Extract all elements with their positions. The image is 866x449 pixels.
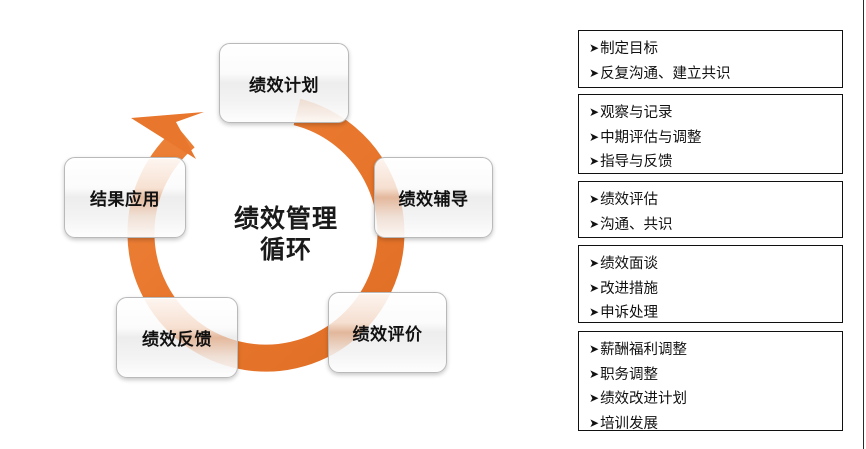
detail-item-text: 申诉处理 — [600, 306, 658, 321]
detail-item-text: 观察与记录 — [600, 106, 673, 121]
detail-item-text: 指导与反馈 — [600, 155, 673, 170]
bullet-arrow-icon: ➤ — [589, 343, 599, 355]
cycle-node-plan-label: 绩效计划 — [249, 71, 319, 96]
bullet-arrow-icon: ➤ — [589, 417, 599, 429]
detail-item-text: 绩效改进计划 — [600, 392, 687, 407]
cycle-node-apply[interactable]: 结果应用 — [64, 157, 186, 238]
bullet-arrow-icon: ➤ — [589, 155, 599, 167]
bullet-arrow-icon: ➤ — [589, 392, 599, 404]
bullet-arrow-icon: ➤ — [589, 131, 599, 143]
cycle-node-feedback-label: 绩效反馈 — [142, 325, 212, 350]
detail-item-text: 反复沟通、建立共识 — [600, 67, 731, 82]
detail-item: ➤ 指导与反馈 — [589, 150, 842, 175]
cycle-node-coach[interactable]: 绩效辅导 — [374, 157, 493, 238]
detail-item: ➤ 职务调整 — [589, 363, 842, 388]
cycle-node-plan[interactable]: 绩效计划 — [219, 43, 349, 123]
bullet-arrow-icon: ➤ — [589, 282, 599, 294]
detail-item-text: 培训发展 — [600, 417, 658, 432]
bullet-arrow-icon: ➤ — [589, 106, 599, 118]
bullet-arrow-icon: ➤ — [589, 42, 599, 54]
detail-item: ➤ 绩效改进计划 — [589, 387, 842, 412]
detail-box-appraise: ➤ 绩效评估 ➤ 沟通、共识 — [578, 181, 843, 238]
detail-box-plan: ➤ 制定目标 ➤ 反复沟通、建立共识 — [578, 30, 843, 88]
bullet-arrow-icon: ➤ — [589, 218, 599, 230]
detail-item: ➤ 改进措施 — [589, 277, 842, 302]
detail-item-text: 沟通、共识 — [600, 218, 673, 233]
detail-item: ➤ 反复沟通、建立共识 — [589, 62, 842, 87]
detail-item: ➤ 薪酬福利调整 — [589, 338, 842, 363]
cycle-node-appraise[interactable]: 绩效评价 — [328, 292, 447, 373]
detail-item-text: 绩效面谈 — [600, 257, 658, 272]
detail-box-feedback: ➤ 绩效面谈 ➤ 改进措施 ➤ 申诉处理 — [578, 245, 843, 323]
bullet-arrow-icon: ➤ — [589, 193, 599, 205]
performance-cycle-diagram: 绩效管理 循环 绩效计划 绩效辅导 绩效评价 绩效反馈 结果应用 — [0, 0, 560, 449]
detail-item: ➤ 沟通、共识 — [589, 213, 842, 238]
detail-item: ➤ 申诉处理 — [589, 301, 842, 326]
detail-panel: ➤ 制定目标 ➤ 反复沟通、建立共识 ➤ 观察与记录 ➤ 中期评估与调整 ➤ 指… — [578, 0, 858, 449]
detail-item: ➤ 观察与记录 — [589, 101, 842, 126]
detail-box-apply: ➤ 薪酬福利调整 ➤ 职务调整 ➤ 绩效改进计划 ➤ 培训发展 — [578, 331, 843, 431]
detail-box-coach: ➤ 观察与记录 ➤ 中期评估与调整 ➤ 指导与反馈 — [578, 94, 843, 174]
detail-item-text: 薪酬福利调整 — [600, 343, 687, 358]
bullet-arrow-icon: ➤ — [589, 306, 599, 318]
detail-item: ➤ 制定目标 — [589, 37, 842, 62]
bullet-arrow-icon: ➤ — [589, 368, 599, 380]
bullet-arrow-icon: ➤ — [589, 67, 599, 79]
detail-item: ➤ 培训发展 — [589, 412, 842, 437]
detail-item: ➤ 绩效评估 — [589, 188, 842, 213]
detail-item-text: 改进措施 — [600, 282, 658, 297]
detail-item-text: 制定目标 — [600, 42, 658, 57]
cycle-node-coach-label: 绩效辅导 — [399, 185, 469, 210]
detail-item: ➤ 中期评估与调整 — [589, 126, 842, 151]
cycle-node-apply-label: 结果应用 — [90, 185, 160, 210]
detail-item-text: 中期评估与调整 — [600, 131, 702, 146]
detail-item: ➤ 绩效面谈 — [589, 252, 842, 277]
slide-edge-divider — [863, 0, 864, 449]
cycle-node-appraise-label: 绩效评价 — [353, 320, 423, 345]
detail-item-text: 职务调整 — [600, 368, 658, 383]
cycle-node-feedback[interactable]: 绩效反馈 — [116, 297, 238, 378]
detail-item-text: 绩效评估 — [600, 193, 658, 208]
bullet-arrow-icon: ➤ — [589, 257, 599, 269]
